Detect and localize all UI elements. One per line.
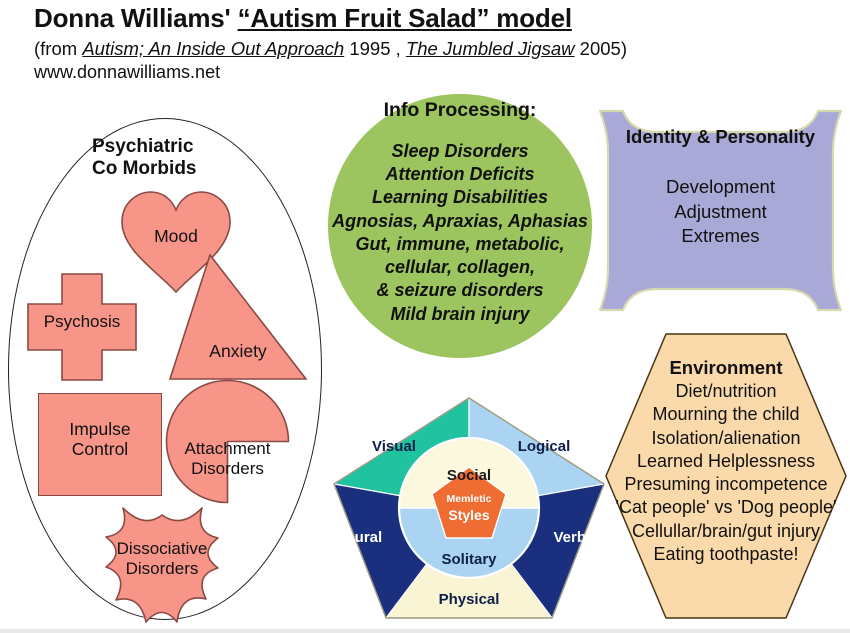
identity-personality-title: Identity & Personality: [597, 126, 844, 148]
impulse-control-line1: Impulse: [39, 419, 161, 439]
list-item: Learned Helplessness: [594, 450, 850, 473]
list-item: Diet/nutrition: [594, 380, 850, 403]
environment-list: Diet/nutrition Mourning the child Isolat…: [594, 380, 850, 566]
source-year-2: 2005): [575, 38, 627, 59]
info-processing-list: Sleep Disorders Attention Deficits Learn…: [306, 140, 614, 326]
psychiatric-heading: Psychiatric Co Morbids: [92, 136, 282, 181]
title-suffix: model: [489, 3, 572, 33]
list-item: Mild brain injury: [306, 303, 614, 326]
list-item: Cellullar/brain/gut injury: [594, 520, 850, 543]
memletic-center-line1: Memletic: [447, 493, 492, 505]
memletic-styles-diagram: Visual Logical Verbal Physical Aural Soc…: [330, 392, 608, 624]
cross-icon: [26, 272, 138, 382]
psychiatric-heading-line1: Psychiatric: [92, 136, 282, 158]
page-title: Donna Williams' “Autism Fruit Salad” mod…: [34, 4, 834, 34]
source-citation: (from Autism; An Inside Out Approach 199…: [34, 37, 834, 60]
memletic-label-social: Social: [447, 467, 491, 484]
memletic-label-aural: Aural: [344, 529, 382, 546]
list-item: 'Cat people' vs 'Dog people': [594, 496, 850, 519]
list-item: Development: [597, 175, 844, 200]
diagram-canvas: Donna Williams' “Autism Fruit Salad” mod…: [0, 0, 850, 633]
list-item: Gut, immune, metabolic,: [306, 233, 614, 256]
header: Donna Williams' “Autism Fruit Salad” mod…: [34, 4, 834, 83]
list-item: Eating toothpaste!: [594, 543, 850, 566]
list-item: & seizure disorders: [306, 279, 614, 302]
environment-title: Environment: [604, 357, 848, 379]
list-item: Isolation/alienation: [594, 427, 850, 450]
list-item: Adjustment: [597, 200, 844, 225]
impulse-control-line2: Control: [39, 439, 161, 459]
memletic-label-solitary: Solitary: [441, 551, 497, 568]
psychosis-cross: Psychosis: [26, 272, 138, 382]
memletic-label-visual: Visual: [372, 438, 416, 455]
triangle-icon: [168, 253, 308, 381]
source-open: (from: [34, 38, 82, 59]
psychiatric-heading-line2: Co Morbids: [92, 158, 282, 180]
memletic-label-physical: Physical: [439, 591, 500, 608]
memletic-pentagon-star: Visual Logical Verbal Physical Aural Soc…: [330, 392, 608, 624]
source-book-1: Autism; An Inside Out Approach: [82, 38, 344, 59]
impulse-control-rectangle: Impulse Control: [38, 393, 162, 496]
source-year-1: 1995 ,: [344, 38, 406, 59]
list-item: Learning Disabilities: [306, 186, 614, 209]
attachment-disorders-pacman: Attachment Disorders: [165, 379, 290, 504]
info-processing-title: Info Processing:: [328, 99, 592, 122]
list-item: Presuming incompetence: [594, 473, 850, 496]
memletic-label-verbal: Verbal: [553, 529, 598, 546]
title-prefix: Donna Williams': [34, 3, 238, 33]
list-item: Attention Deficits: [306, 163, 614, 186]
pacman-icon: [165, 379, 290, 504]
list-item: Mourning the child: [594, 403, 850, 426]
dissociative-disorders-starburst: Dissociative Disorders: [82, 505, 242, 625]
starburst-icon: [82, 505, 242, 625]
title-quoted: “Autism Fruit Salad”: [238, 3, 490, 33]
list-item: Extremes: [597, 224, 844, 249]
list-item: Sleep Disorders: [306, 140, 614, 163]
website-url: www.donnawilliams.net: [34, 62, 834, 83]
identity-personality-list: Development Adjustment Extremes: [597, 175, 844, 249]
impulse-control-label: Impulse Control: [39, 419, 161, 459]
list-item: Agnosias, Apraxias, Aphasias: [306, 210, 614, 233]
memletic-label-logical: Logical: [518, 438, 571, 455]
list-item: cellular, collagen,: [306, 256, 614, 279]
source-book-2: The Jumbled Jigsaw: [406, 38, 575, 59]
memletic-center-line2: Styles: [448, 507, 489, 523]
anxiety-triangle: Anxiety: [168, 253, 308, 381]
